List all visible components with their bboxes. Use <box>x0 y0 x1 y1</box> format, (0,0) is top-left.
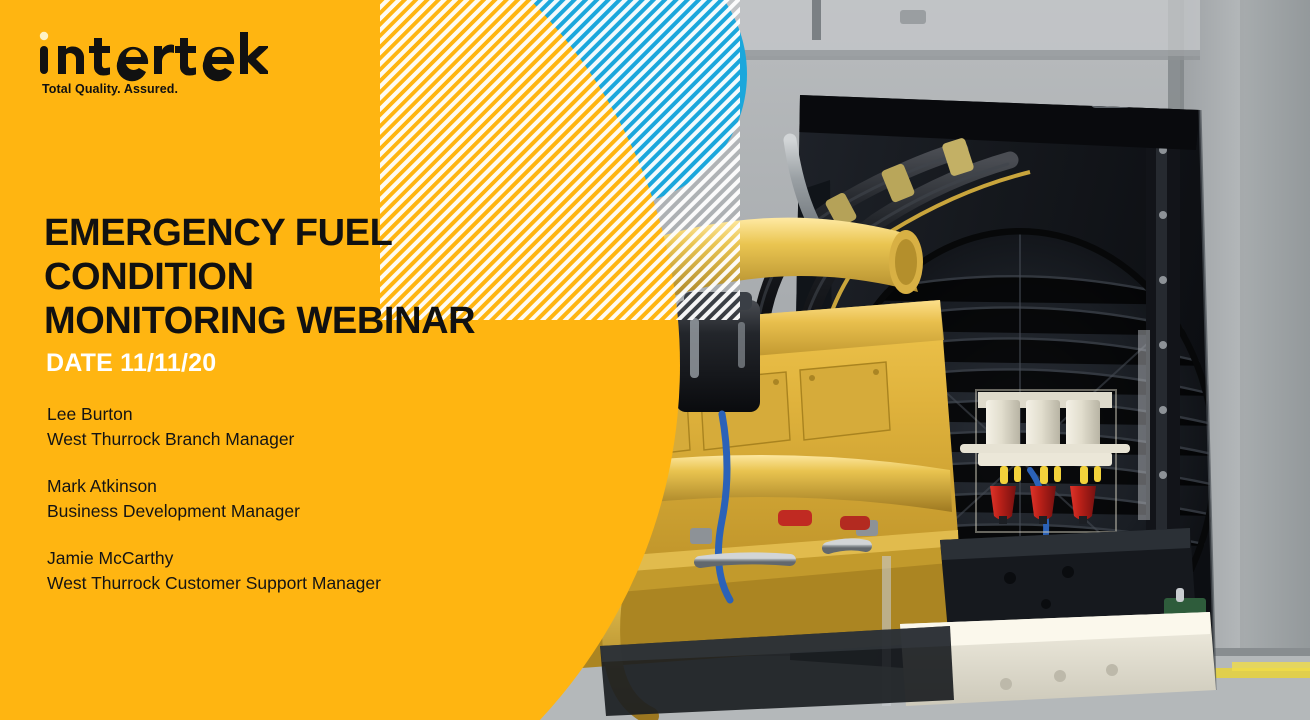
intertek-logo-dot <box>40 32 48 40</box>
speaker-name: Lee Burton <box>47 402 567 427</box>
list-item: Lee Burton West Thurrock Branch Manager <box>47 402 567 452</box>
speaker-role: West Thurrock Branch Manager <box>47 427 567 452</box>
title-line-3: MONITORING WEBINAR <box>44 299 604 343</box>
intertek-wordmark <box>38 30 268 82</box>
speaker-list: Lee Burton West Thurrock Branch Manager … <box>47 402 567 596</box>
title-line-2: CONDITION <box>44 255 604 299</box>
speaker-name: Jamie McCarthy <box>47 546 567 571</box>
title-line-1: EMERGENCY FUEL <box>44 211 604 255</box>
slide-content: Total Quality. Assured. EMERGENCY FUEL C… <box>0 0 700 720</box>
brand-tagline: Total Quality. Assured. <box>42 82 178 96</box>
speaker-name: Mark Atkinson <box>47 474 567 499</box>
speaker-role: Business Development Manager <box>47 499 567 524</box>
speaker-role: West Thurrock Customer Support Manager <box>47 571 567 596</box>
intertek-logo: Total Quality. Assured. <box>38 30 298 102</box>
page-title: EMERGENCY FUEL CONDITION MONITORING WEBI… <box>44 211 604 343</box>
list-item: Jamie McCarthy West Thurrock Customer Su… <box>47 546 567 596</box>
date-label: DATE 11/11/20 <box>46 349 216 378</box>
webinar-title-slide: Total Quality. Assured. EMERGENCY FUEL C… <box>0 0 1310 720</box>
list-item: Mark Atkinson Business Development Manag… <box>47 474 567 524</box>
